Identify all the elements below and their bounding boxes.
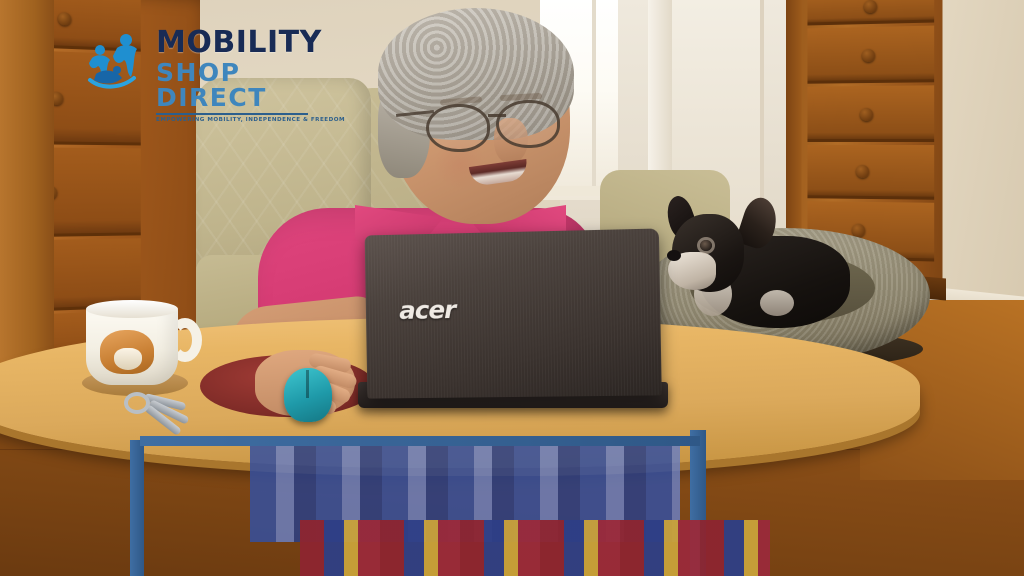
dog-eye — [700, 240, 712, 251]
laptop-lid: acer — [365, 228, 662, 398]
brand-logo[interactable]: MOBILITY SHOP DIRECT EMPOWERING MOBILITY… — [86, 24, 316, 96]
eyeglasses-bridge — [488, 114, 506, 117]
logo-name-line1: MOBILITY — [156, 28, 345, 58]
dog-nose — [667, 250, 681, 261]
hero-image: acer MOBILITY SHOP DIRECT — [0, 0, 1024, 576]
mug-rim — [86, 300, 178, 318]
mug-dog-face — [114, 348, 142, 370]
logo-name-line2: SHOP DIRECT — [156, 60, 345, 110]
table-leg-left — [130, 440, 144, 576]
keyring — [124, 392, 150, 414]
mouse-button-split — [306, 370, 309, 398]
dresser-left-side — [0, 0, 54, 364]
mobility-figures-icon — [86, 30, 152, 92]
window-mullion — [592, 0, 596, 186]
acer-logo: acer — [399, 295, 456, 325]
eyeglasses-left-lens — [426, 104, 490, 152]
eyeglasses-right-lens — [496, 100, 560, 148]
dog-hind-marking — [760, 290, 794, 316]
rug-patterned — [300, 520, 770, 576]
logo-divider — [156, 113, 308, 115]
table-brace — [140, 436, 700, 446]
logo-tagline: EMPOWERING MOBILITY, INDEPENDENCE & FREE… — [156, 117, 345, 123]
